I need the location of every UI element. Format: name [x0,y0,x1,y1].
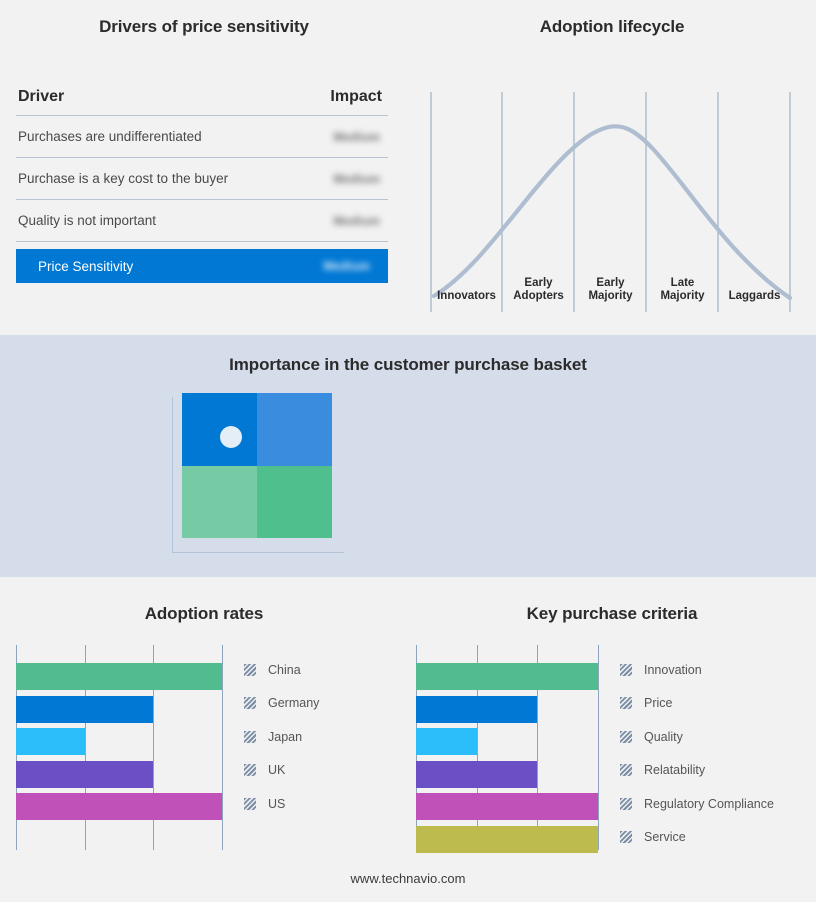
drivers-table: Driver Impact Purchases are undifferenti… [16,88,388,283]
matrix-quadrants [182,393,332,538]
table-header-row: Driver Impact [16,88,388,116]
impact-value-redacted: Medium [333,172,388,186]
hatched-swatch-icon [244,764,256,776]
gridline [222,645,223,850]
matrix-x-axis [172,552,344,553]
footer-url: www.technavio.com [0,871,816,886]
legend-item: Price [620,687,774,721]
hatched-swatch-icon [620,664,632,676]
hatched-swatch-icon [620,697,632,709]
matrix-quadrant-bottom-right [257,466,332,539]
lifecycle-label-early-adopters: Early Adopters [503,277,574,303]
hatched-swatch-icon [620,764,632,776]
purchase-criteria-panel: Key purchase criteria InnovationPriceQua… [408,577,816,902]
legend-item: Germany [244,687,319,721]
legend-label: Regulatory Compliance [644,797,774,811]
summary-label: Price Sensitivity [38,259,133,274]
legend-item: China [244,653,319,687]
matrix-quadrant-top-right [257,393,332,466]
bar-uk [16,761,153,788]
purchase-basket-title: Importance in the customer purchase bask… [0,355,816,375]
bar-japan [16,728,85,755]
legend-item: Quality [620,720,774,754]
hatched-swatch-icon [620,798,632,810]
legend-item: UK [244,754,319,788]
legend-label: US [268,797,285,811]
bottom-section: Adoption rates ChinaGermanyJapanUKUS Key… [0,577,816,902]
hatched-swatch-icon [244,697,256,709]
legend-item: Regulatory Compliance [620,787,774,821]
legend-item: Innovation [620,653,774,687]
driver-label: Purchase is a key cost to the buyer [18,171,228,186]
legend-item: Japan [244,720,319,754]
bar-germany [16,696,153,723]
matrix-position-marker [220,426,242,448]
summary-impact-value-redacted: Medium [323,259,388,273]
bar-us [16,793,222,820]
drivers-panel: Drivers of price sensitivity Driver Impa… [0,0,408,335]
impact-value-redacted: Medium [333,130,388,144]
hatched-swatch-icon [244,798,256,810]
table-row: Purchases are undifferentiated Medium [16,116,388,158]
hatched-swatch-icon [620,731,632,743]
bar-service [416,826,598,853]
adoption-lifecycle-chart: Innovators Early Adopters Early Majority… [430,72,798,312]
legend-label: Relatability [644,763,705,777]
lifecycle-label-early-majority: Early Majority [575,277,646,303]
top-section: Drivers of price sensitivity Driver Impa… [0,0,816,335]
adoption-lifecycle-panel: Adoption lifecycle Innovators Early Adop… [408,0,816,335]
legend-label: UK [268,763,285,777]
purchase-criteria-chart: InnovationPriceQualityRelatabilityRegula… [416,645,816,850]
lifecycle-label-late-majority: Late Majority [647,277,718,303]
matrix-quadrant-bottom-left [182,466,257,539]
driver-label: Quality is not important [18,213,156,228]
adoption-rates-plot [16,645,222,850]
purchase-criteria-title: Key purchase criteria [408,604,816,624]
hatched-swatch-icon [244,664,256,676]
hatched-swatch-icon [244,731,256,743]
lifecycle-label-laggards: Laggards [719,290,790,303]
legend-label: Price [644,696,672,710]
bar-relatability [416,761,537,788]
hatched-swatch-icon [620,831,632,843]
legend-label: Quality [644,730,683,744]
gridline [598,645,599,850]
legend-item: Service [620,821,774,855]
adoption-rates-title: Adoption rates [0,604,408,624]
price-sensitivity-summary-row: Price Sensitivity Medium [16,249,388,283]
matrix-quadrant-top-left [182,393,257,466]
legend-item: Relatability [620,754,774,788]
bar-price [416,696,537,723]
legend-label: China [268,663,301,677]
purchase-criteria-legend: InnovationPriceQualityRelatabilityRegula… [620,653,774,854]
lifecycle-curve-svg [430,72,798,312]
bar-innovation [416,663,598,690]
legend-item: US [244,787,319,821]
legend-label: Service [644,830,686,844]
bar-quality [416,728,477,755]
impact-value-redacted: Medium [333,214,388,228]
column-header-driver: Driver [18,88,64,106]
adoption-rates-chart: ChinaGermanyJapanUKUS [16,645,396,850]
purchase-basket-matrix [172,393,347,553]
legend-label: Innovation [644,663,702,677]
purchase-basket-section: Importance in the customer purchase bask… [0,335,816,577]
driver-label: Purchases are undifferentiated [18,129,202,144]
adoption-rates-legend: ChinaGermanyJapanUKUS [244,653,319,821]
bar-china [16,663,222,690]
legend-label: Germany [268,696,319,710]
lifecycle-bell-curve [434,126,790,298]
drivers-title: Drivers of price sensitivity [0,17,408,37]
adoption-lifecycle-title: Adoption lifecycle [408,17,816,37]
legend-label: Japan [268,730,302,744]
column-header-impact: Impact [330,88,388,106]
matrix-y-axis [172,397,173,552]
table-row: Quality is not important Medium [16,200,388,242]
adoption-rates-panel: Adoption rates ChinaGermanyJapanUKUS [0,577,408,902]
table-row: Purchase is a key cost to the buyer Medi… [16,158,388,200]
purchase-criteria-plot [416,645,598,850]
bar-regulatory-compliance [416,793,598,820]
lifecycle-label-innovators: Innovators [431,290,502,303]
